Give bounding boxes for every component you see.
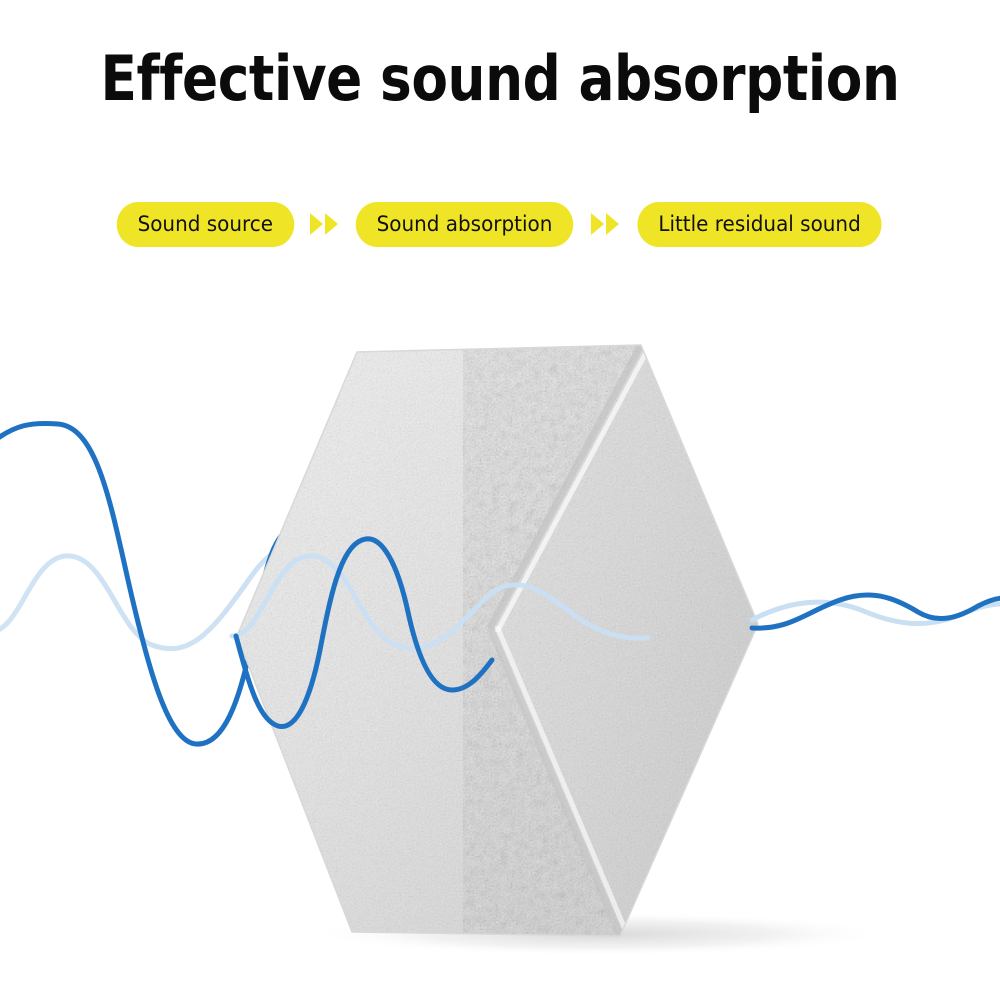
- panel-outline: [237, 345, 758, 936]
- panel-crease-upper: [490, 345, 641, 628]
- chevron-right-icon: [591, 213, 604, 235]
- chevron-right-icon: [325, 213, 338, 235]
- panel-face-right: [490, 345, 758, 936]
- panel-face-right-grain: [490, 345, 758, 936]
- page-title: Effective sound absorption: [70, 48, 930, 110]
- chevron-right-icon: [310, 213, 323, 235]
- flow-badge-little-residual-sound: Little residual sound: [638, 202, 882, 247]
- sound-wave-background-layer: [0, 0, 1000, 1000]
- panel-face-left: [237, 345, 641, 936]
- flow-badge-label: Sound absorption: [377, 212, 553, 236]
- flow-badge-label: Sound source: [137, 212, 272, 236]
- panel-face-left-grain: [237, 345, 641, 936]
- incoming-wave-blue-on-panel: [236, 539, 492, 727]
- residual-wave-faint-on-panel: [232, 556, 648, 648]
- flow-badge-sound-absorption: Sound absorption: [356, 202, 574, 247]
- double-chevron-right-icon: [298, 213, 350, 235]
- residual-wave-faint-left: [0, 546, 520, 648]
- sound-wave-foreground-layer: [0, 0, 1000, 1000]
- incoming-wave-blue-right: [752, 595, 1000, 628]
- sound-flow-row: Sound source Sound absorption Little res…: [0, 200, 1000, 248]
- panel-left-edge-shade: [218, 636, 352, 940]
- panel-crease-lower-highlight: [497, 626, 627, 934]
- panel-ground-shadow: [310, 912, 890, 956]
- panel-bottom-edge-shade: [352, 932, 620, 960]
- flow-badge-label: Little residual sound: [659, 212, 861, 236]
- double-chevron-right-icon: [579, 213, 631, 235]
- panel-crease-lower: [490, 628, 620, 936]
- acoustic-panel-product-image: [0, 0, 1000, 1000]
- panel-crease-upper-highlight: [497, 349, 648, 632]
- chevron-right-icon: [606, 213, 619, 235]
- incoming-wave-blue-left: [0, 423, 548, 744]
- product-feature-banner: Effective sound absorption Sound source …: [0, 0, 1000, 1000]
- flow-badge-sound-source: Sound source: [116, 202, 293, 247]
- residual-wave-faint-right: [752, 602, 1000, 623]
